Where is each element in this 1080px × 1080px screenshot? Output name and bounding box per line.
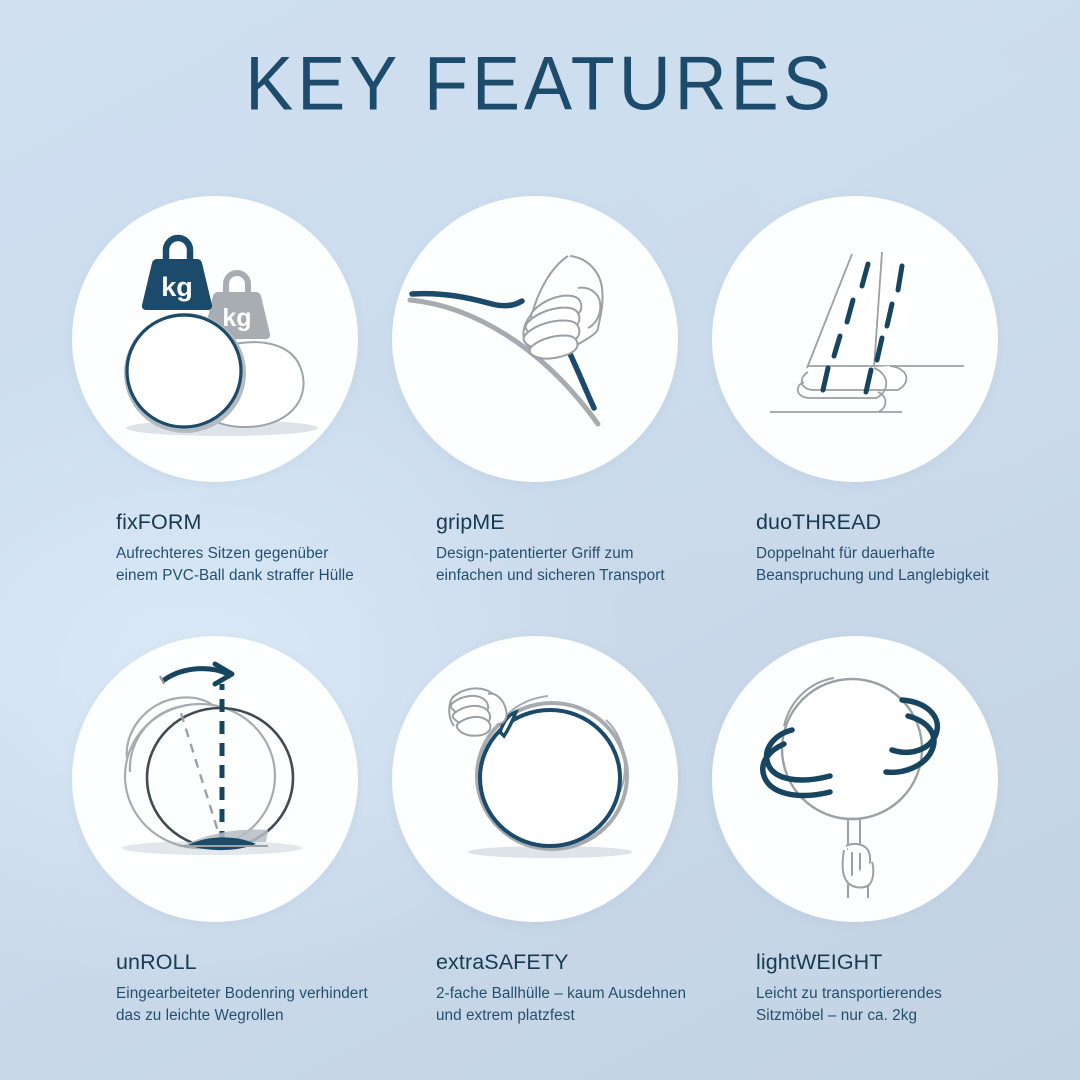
features-row-2: unROLL Eingearbeiteter Bodenring verhind… <box>0 636 1080 1076</box>
feature-description-line-2: Sitzmöbel – nur ca. 2kg <box>756 1005 1015 1027</box>
feature-icon-disc <box>712 196 998 482</box>
feature-title: unROLL <box>116 951 375 975</box>
ball-rolling-arrow-icon <box>72 636 358 922</box>
feature-icon-disc <box>72 636 358 922</box>
feature-caption: unROLL Eingearbeiteter Bodenring verhind… <box>55 951 375 1028</box>
feature-description-line-1: Leicht zu transportierendes <box>756 983 1015 1005</box>
feature-title: gripME <box>436 511 695 535</box>
feature-description-line-1: Doppelnaht für dauerhafte <box>756 543 1015 565</box>
feature-card-duothread: duoTHREAD Doppelnaht für dauerhafte Bean… <box>695 196 1015 588</box>
page-title: KEY FEATURES <box>0 48 1080 120</box>
feature-caption: lightWEIGHT Leicht zu transportierendes … <box>695 951 1015 1028</box>
feature-card-extrasafety: extraSAFETY 2-fache Ballhülle – kaum Aus… <box>375 636 695 1028</box>
feature-description-line-2: und extrem platzfest <box>436 1005 695 1027</box>
features-grid: kg kg fixFORM Aufrechteres Sitzen gegenü… <box>0 196 1080 1076</box>
feature-caption: fixFORM Aufrechteres Sitzen gegenüber ei… <box>55 511 375 588</box>
feature-description: Doppelnaht für dauerhafte Beanspruchung … <box>756 543 1015 588</box>
feature-title: fixFORM <box>116 511 375 535</box>
feature-icon-disc <box>712 636 998 922</box>
weight-on-ball-icon: kg kg <box>72 196 358 482</box>
svg-text:kg: kg <box>161 272 193 302</box>
feature-icon-disc <box>392 636 678 922</box>
feature-description: Eingearbeiteter Bodenring verhindert das… <box>116 983 375 1028</box>
feature-description: Leicht zu transportierendes Sitzmöbel – … <box>756 983 1015 1028</box>
feature-description-line-1: Aufrechteres Sitzen gegenüber <box>116 543 375 565</box>
feature-description-line-2: einem PVC-Ball dank straffer Hülle <box>116 565 375 587</box>
feature-description: 2-fache Ballhülle – kaum Ausdehnen und e… <box>436 983 695 1028</box>
feature-description-line-1: 2-fache Ballhülle – kaum Ausdehnen <box>436 983 695 1005</box>
feature-description: Design-patentierter Griff zum einfachen … <box>436 543 695 588</box>
feature-card-gripme: gripME Design-patentierter Griff zum ein… <box>375 196 695 588</box>
feature-description-line-2: das zu leichte Wegrollen <box>116 1005 375 1027</box>
feature-description: Aufrechteres Sitzen gegenüber einem PVC-… <box>116 543 375 588</box>
feature-icon-disc: kg kg <box>72 196 358 482</box>
double-stitched-seam-icon <box>712 196 998 482</box>
feature-caption: gripME Design-patentierter Griff zum ein… <box>375 511 695 588</box>
ball-spinning-on-finger-icon <box>712 636 998 922</box>
feature-title: duoTHREAD <box>756 511 1015 535</box>
double-cover-hand-pull-icon <box>392 636 678 922</box>
feature-card-fixform: kg kg fixFORM Aufrechteres Sitzen gegenü… <box>55 196 375 588</box>
features-row-1: kg kg fixFORM Aufrechteres Sitzen gegenü… <box>0 196 1080 636</box>
key-features-poster: KEY FEATURES kg <box>0 0 1080 1080</box>
hand-gripping-handle-icon <box>392 196 678 482</box>
feature-icon-disc <box>392 196 678 482</box>
feature-caption: extraSAFETY 2-fache Ballhülle – kaum Aus… <box>375 951 695 1028</box>
feature-title: extraSAFETY <box>436 951 695 975</box>
svg-text:kg: kg <box>222 304 251 332</box>
feature-description-line-1: Eingearbeiteter Bodenring verhindert <box>116 983 375 1005</box>
feature-caption: duoTHREAD Doppelnaht für dauerhafte Bean… <box>695 511 1015 588</box>
feature-description-line-2: Beanspruchung und Langlebigkeit <box>756 565 1015 587</box>
feature-description-line-1: Design-patentierter Griff zum <box>436 543 695 565</box>
page-title-text: KEY FEATURES <box>245 46 834 122</box>
feature-card-lightweight: lightWEIGHT Leicht zu transportierendes … <box>695 636 1015 1028</box>
feature-description-line-2: einfachen und sicheren Transport <box>436 565 695 587</box>
feature-title: lightWEIGHT <box>756 951 1015 975</box>
feature-card-unroll: unROLL Eingearbeiteter Bodenring verhind… <box>55 636 375 1028</box>
